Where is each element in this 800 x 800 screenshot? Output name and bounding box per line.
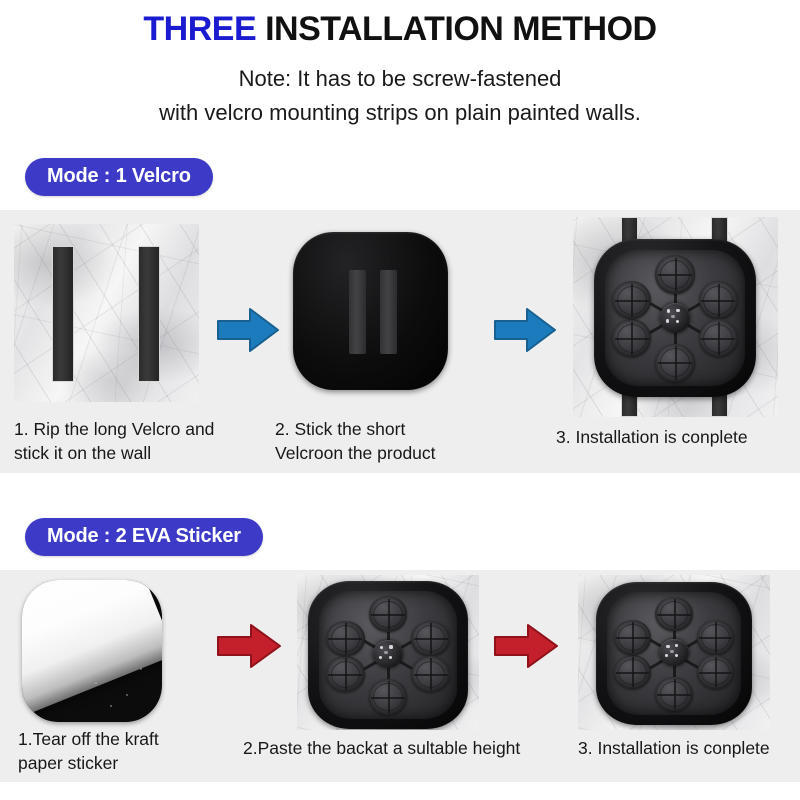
product-back-shell <box>293 232 448 390</box>
kraft-paper-sheet <box>22 580 162 722</box>
mode-1-panel: 1. Rip the long Velcro and stick it on t… <box>0 210 800 473</box>
step-caption-1-3: 3. Installation is conplete <box>556 425 800 449</box>
marble-wall-background <box>14 224 199 402</box>
step-caption-1-1: 1. Rip the long Velcro and stick it on t… <box>14 417 264 465</box>
step-caption-2-2: 2.Paste the backat a sultable height <box>243 736 573 760</box>
trainer-face-2 <box>319 591 457 718</box>
target-pad-2 <box>699 281 738 319</box>
mode-2-panel: 1.Tear off the kraft paper sticker 2.Pas… <box>0 570 800 782</box>
trainer-face <box>605 250 744 386</box>
target-pad-3 <box>699 319 738 357</box>
control-hub <box>659 639 689 666</box>
target-pad-4 <box>369 679 408 715</box>
mode-1-badge[interactable]: Mode : 1 Velcro <box>25 158 213 196</box>
target-pad-2 <box>697 620 735 654</box>
step-image-installed-trainer-on-wall <box>573 217 778 417</box>
target-pad-5 <box>326 656 365 692</box>
target-pad-4 <box>655 677 693 711</box>
boxing-trainer-device-3 <box>596 582 752 725</box>
speck-3 <box>110 705 112 707</box>
note-line-1: Note: It has to be screw-fastened <box>0 62 800 96</box>
marble-wall-background-3 <box>297 575 479 730</box>
target-pad-3 <box>697 655 735 689</box>
target-pad-6 <box>612 281 651 319</box>
short-velcro-pad-right <box>380 270 397 354</box>
target-pad-2 <box>411 621 450 657</box>
eva-sticker-back <box>22 580 162 722</box>
mode-2-steps-row: 1.Tear off the kraft paper sticker 2.Pas… <box>0 570 800 782</box>
control-hub <box>660 303 691 333</box>
target-pad-1 <box>655 255 694 293</box>
boxing-trainer-device-2 <box>308 581 468 729</box>
mode-2-badge[interactable]: Mode : 2 EVA Sticker <box>25 518 263 556</box>
marble-wall-background-4 <box>578 575 770 730</box>
short-velcro-pad-left <box>349 270 366 354</box>
step-image-kraft-paper-peel <box>22 580 162 722</box>
mode-2-badge-wrap: Mode : 2 EVA Sticker <box>25 518 263 556</box>
step-image-trainer-pasted-on-wall <box>297 575 479 730</box>
target-pad-5 <box>614 655 652 689</box>
note-line-2: with velcro mounting strips on plain pai… <box>0 96 800 130</box>
boxing-trainer-device <box>594 239 756 397</box>
velcro-strip-left <box>52 246 74 382</box>
mode-1-badge-wrap: Mode : 1 Velcro <box>25 158 213 196</box>
speck-4 <box>140 668 142 670</box>
trainer-face-3 <box>607 592 741 715</box>
speck-2 <box>126 694 128 696</box>
mode-1-steps-row: 1. Rip the long Velcro and stick it on t… <box>0 210 800 473</box>
installation-guide-page: THREE INSTALLATION METHOD Note: It has t… <box>0 0 800 800</box>
target-pad-1 <box>655 597 693 631</box>
target-pad-5 <box>612 319 651 357</box>
page-title-accent: THREE <box>143 10 256 48</box>
step-image-product-back-with-short-velcro <box>293 232 448 390</box>
marble-wall-background-2 <box>573 217 778 417</box>
step-image-installed-trainer-on-wall-2 <box>578 575 770 730</box>
step-image-velcro-strips-on-wall <box>14 224 199 402</box>
target-pad-1 <box>369 596 408 632</box>
velcro-strip-right <box>138 246 160 382</box>
target-pad-6 <box>326 621 365 657</box>
target-pad-6 <box>614 620 652 654</box>
control-hub <box>373 640 403 668</box>
step-caption-2-3: 3. Installation is conplete <box>578 736 800 760</box>
step-caption-2-1: 1.Tear off the kraft paper sticker <box>18 727 218 775</box>
header: THREE INSTALLATION METHOD Note: It has t… <box>0 0 800 140</box>
target-pad-4 <box>655 344 694 382</box>
page-title: THREE INSTALLATION METHOD <box>0 8 800 50</box>
target-pad-3 <box>411 656 450 692</box>
step-caption-1-2: 2. Stick the short Velcroon the product <box>275 417 515 465</box>
page-title-rest: INSTALLATION METHOD <box>256 10 656 48</box>
